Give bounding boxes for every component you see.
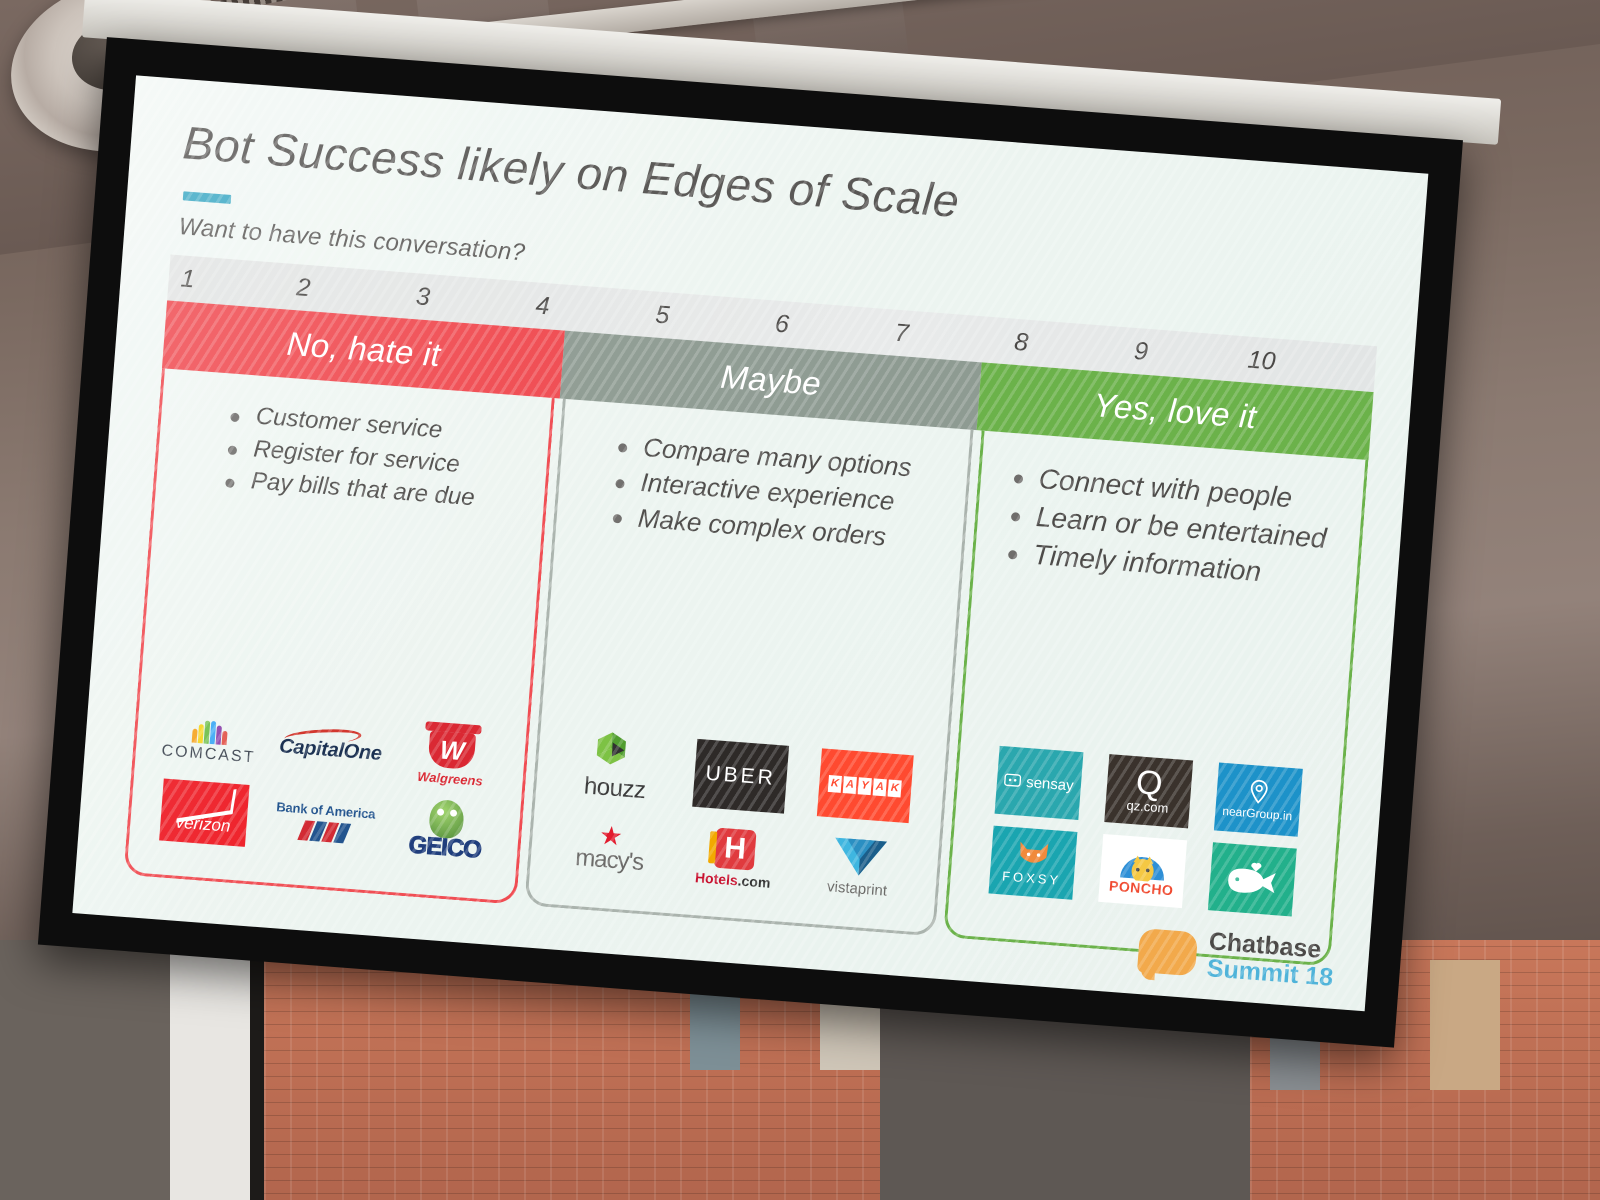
logo-macys: ★ macy's [574, 820, 646, 877]
hotels-h-icon: H [714, 827, 757, 870]
kayak-letters: KAYAK [816, 748, 913, 823]
window-frame-white [170, 940, 250, 1200]
logo-kayak: KAYAK [816, 748, 913, 823]
logo-verizon: verizon [159, 779, 249, 847]
scale-number: 7 [894, 319, 910, 349]
bullet-dot-icon [226, 478, 236, 488]
logo-sensay: sensay [994, 746, 1083, 820]
bullet-dot-icon [1008, 550, 1018, 560]
category-cards: Customer service Register for service Pa… [123, 368, 1368, 966]
bullet-dot-icon [1014, 475, 1024, 485]
logo-uber: UBER [692, 739, 789, 814]
bullet-list: Customer service Register for service Pa… [156, 394, 550, 519]
mortar-icon: W [428, 731, 477, 770]
wall-left [0, 940, 170, 1200]
poncho-cat-icon [1113, 844, 1173, 882]
logo-capital-one: CapitalOne [278, 735, 382, 766]
logo-grid: houzz UBER KAYAK ★ macy's [530, 725, 946, 903]
logo-foxsy: FOXSY [988, 826, 1077, 900]
logo-walgreens: W Walgreens [417, 730, 486, 789]
logo-qz: Q qz.com [1104, 754, 1193, 828]
peacock-icon [188, 716, 232, 745]
logo-poncho: PONCHO [1098, 834, 1187, 908]
speech-bubble-icon [1137, 927, 1198, 975]
presentation-slide: Bot Success likely on Edges of Scale Wan… [72, 75, 1428, 1011]
window-mullion [250, 940, 264, 1200]
logo-geico: GEICO [408, 797, 485, 864]
page-title: Bot Success likely on Edges of Scale [181, 115, 961, 228]
card-maybe: Compare many options Interactive experie… [524, 399, 973, 937]
fox-icon [1016, 839, 1052, 869]
building-window [1430, 960, 1500, 1090]
chat-bubble-icon [1004, 772, 1022, 790]
projection-screen: Bot Success likely on Edges of Scale Wan… [0, 18, 1484, 1059]
scale-number: 2 [295, 273, 311, 303]
houzz-mark-icon [594, 729, 641, 772]
logo-grid: sensay Q qz.com [950, 743, 1342, 920]
bullet-dot-icon [228, 445, 238, 455]
vistaprint-v-icon [830, 835, 889, 879]
bullet-dot-icon [615, 479, 625, 489]
scale-number: 8 [1013, 328, 1029, 358]
scale-number: 5 [654, 301, 670, 331]
bullet-list: Compare many options Interactive experie… [556, 425, 969, 559]
logo-vistaprint: vistaprint [826, 835, 890, 899]
logo-bank-of-america: Bank of America [274, 799, 376, 845]
photo-scene: AUDIENCE SIDE Bot Success likely on Edge… [0, 0, 1600, 1200]
logo-neargroup: nearGroup.in [1214, 763, 1303, 837]
logo-hotels-com: H Hotels.com [695, 826, 775, 891]
accent-bar [183, 191, 232, 204]
bullet-list: Connect with people Learn or be entertai… [974, 457, 1363, 597]
logo-grid: COMCAST CapitalOne W Walgreens verizon [129, 708, 526, 867]
scale-number: 1 [180, 264, 196, 294]
scale-number: 9 [1133, 337, 1149, 367]
gecko-icon [428, 799, 465, 839]
scale-number: 3 [415, 282, 431, 312]
scale-number: 6 [774, 310, 790, 340]
bullet-dot-icon [231, 413, 241, 423]
bullet-dot-icon [618, 443, 628, 453]
whale-icon [1224, 859, 1281, 899]
card-yes: Connect with people Learn or be entertai… [943, 431, 1368, 967]
scale-number: 10 [1247, 346, 1277, 377]
map-pin-icon [1245, 778, 1273, 806]
card-no: Customer service Register for service Pa… [123, 368, 554, 904]
bullet-dot-icon [1011, 512, 1021, 522]
flag-icon [297, 820, 351, 843]
bullet-dot-icon [613, 514, 623, 524]
logo-comcast: COMCAST [161, 714, 258, 767]
logo-houzz: houzz [583, 729, 650, 805]
logo-whale-app [1208, 842, 1297, 916]
scale-number: 4 [535, 291, 551, 321]
